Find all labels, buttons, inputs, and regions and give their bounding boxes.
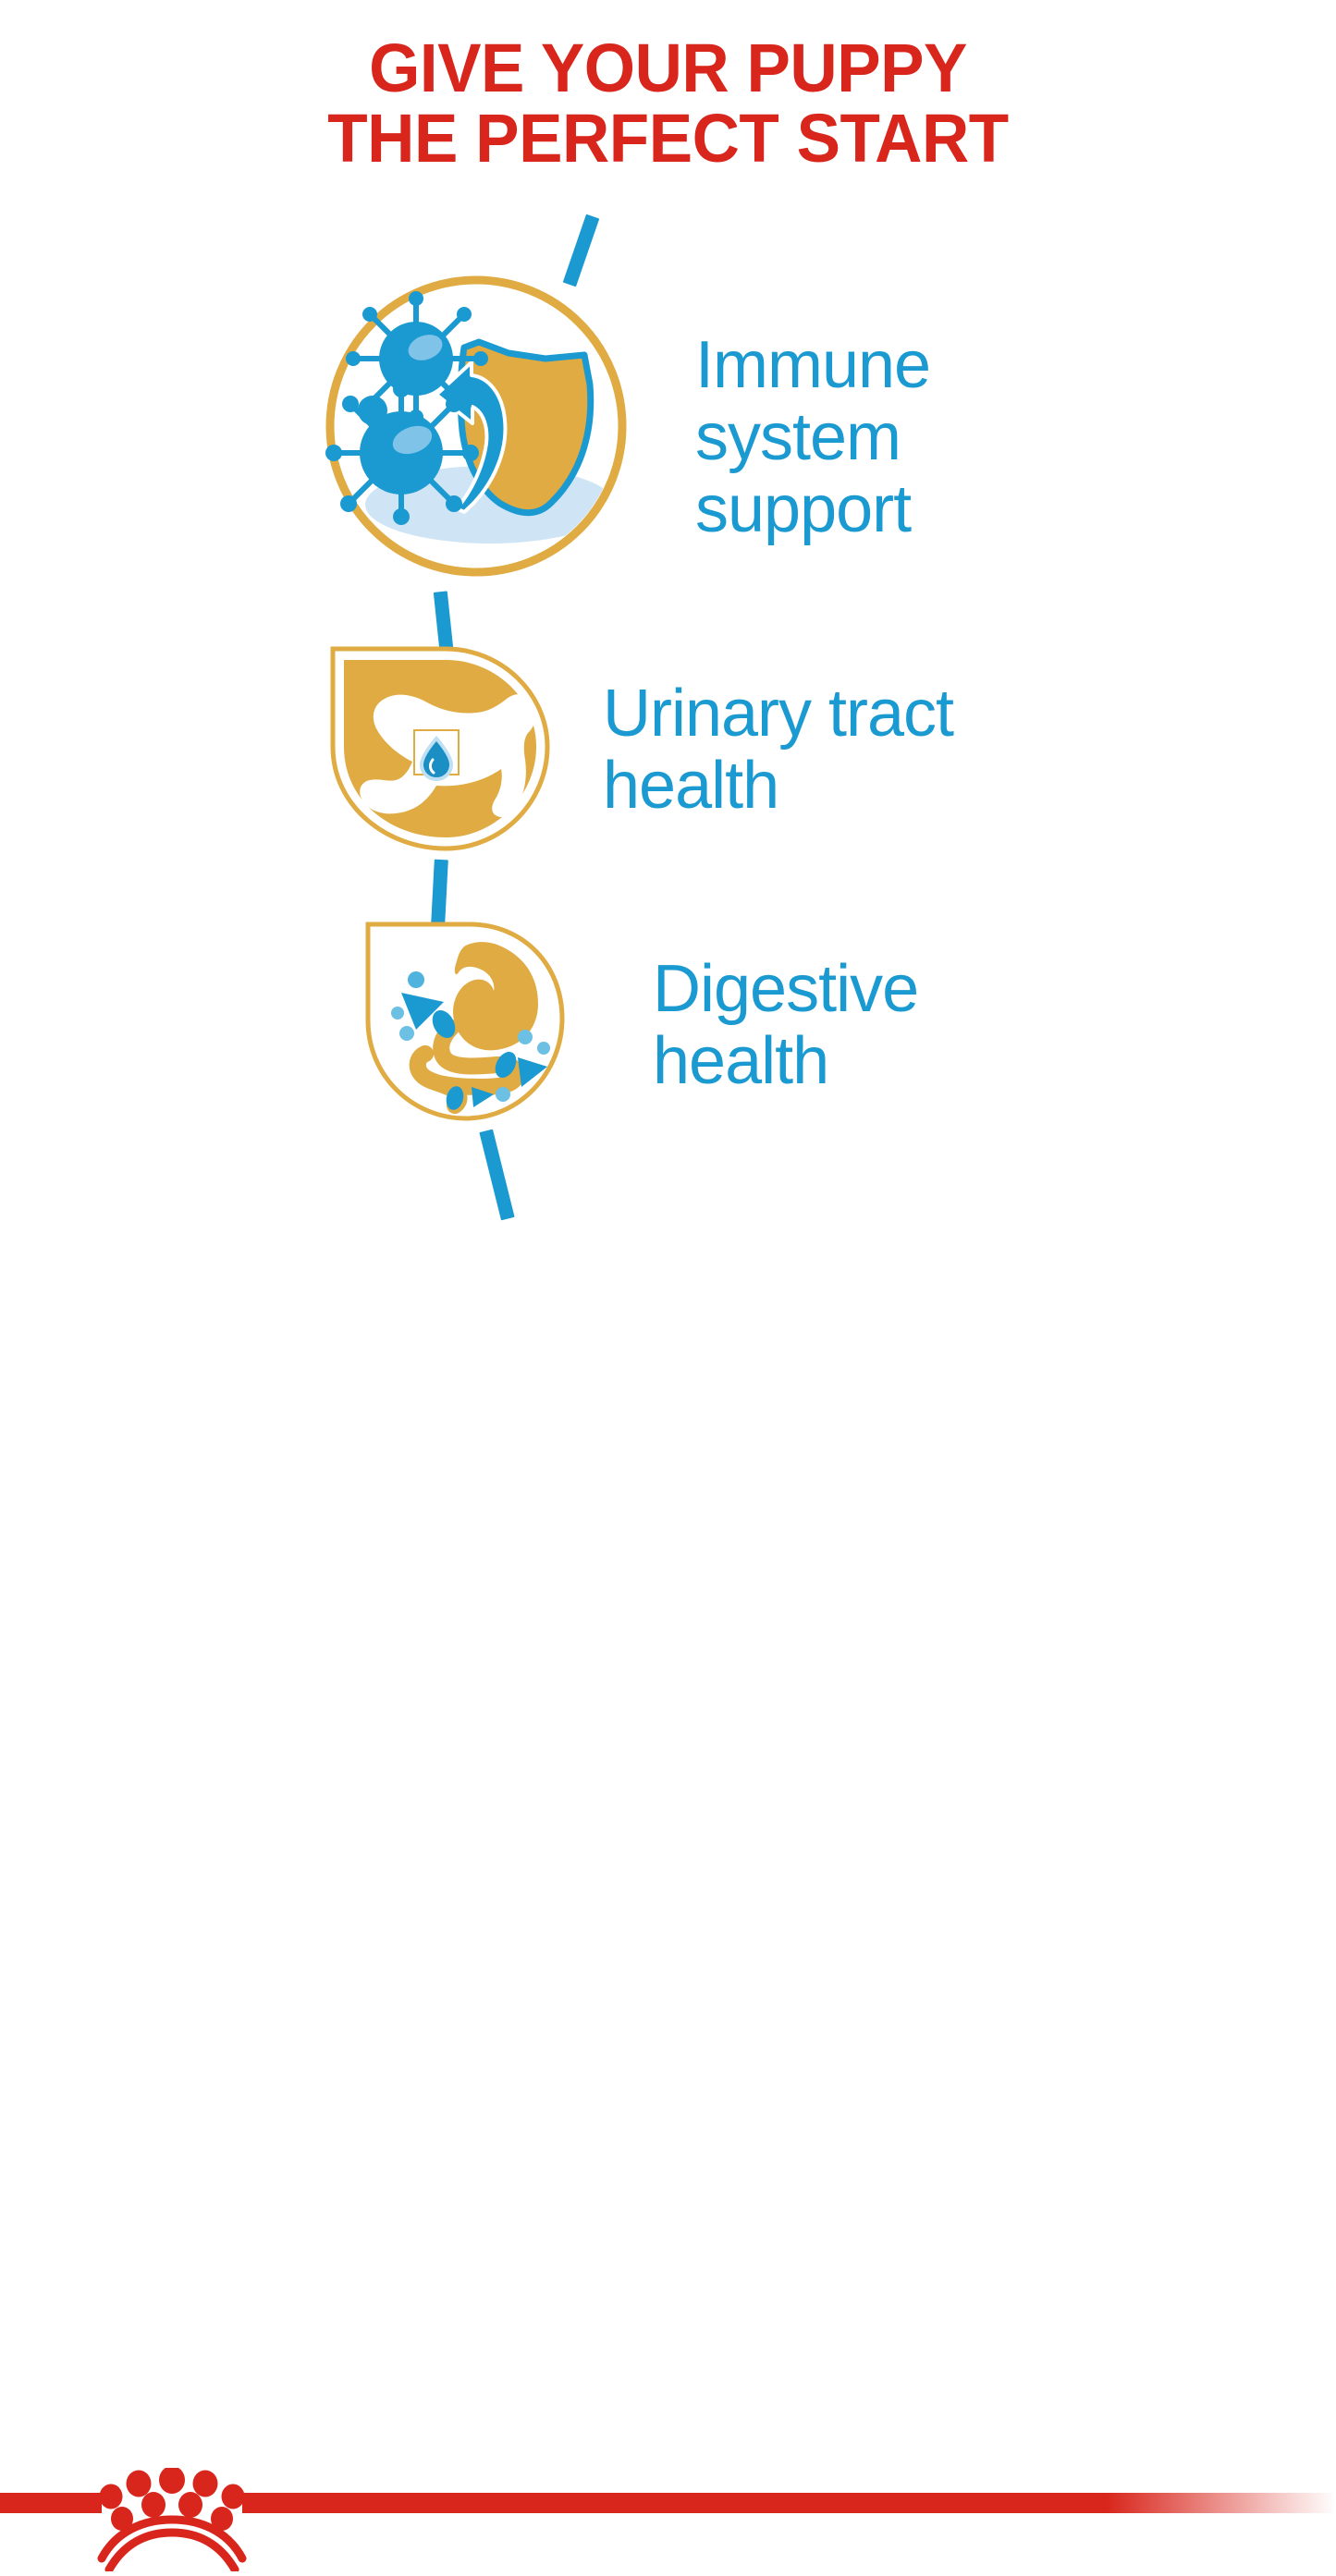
footer-bar-right [242,2493,1336,2513]
benefit-label-digestive: Digestive health [653,953,1069,1097]
flow-arrow-right [518,1057,547,1087]
stomach-intestine-icon [362,919,568,1124]
puppy-water-droplet-icon [325,641,557,856]
connector-dash-2 [431,860,448,925]
connector-dash-bottom [479,1129,514,1221]
virus-particle-lower [325,381,479,525]
benefit-label-immune: Immune system support [695,329,1093,545]
title-line-2: THE PERFECT START [27,104,1309,174]
benefit-label-urinary: Urinary tract health [603,678,1102,822]
footer [0,1239,1336,1336]
title-line-1: GIVE YOUR PUPPY [27,33,1309,104]
royal-canin-crown-icon [89,2468,255,2571]
infographic-canvas: GIVE YOUR PUPPY THE PERFECT START [0,0,1336,1336]
footer-bar-left [0,2493,102,2513]
page-title: GIVE YOUR PUPPY THE PERFECT START [27,33,1309,174]
immune-shield-virus-icon [324,274,629,579]
